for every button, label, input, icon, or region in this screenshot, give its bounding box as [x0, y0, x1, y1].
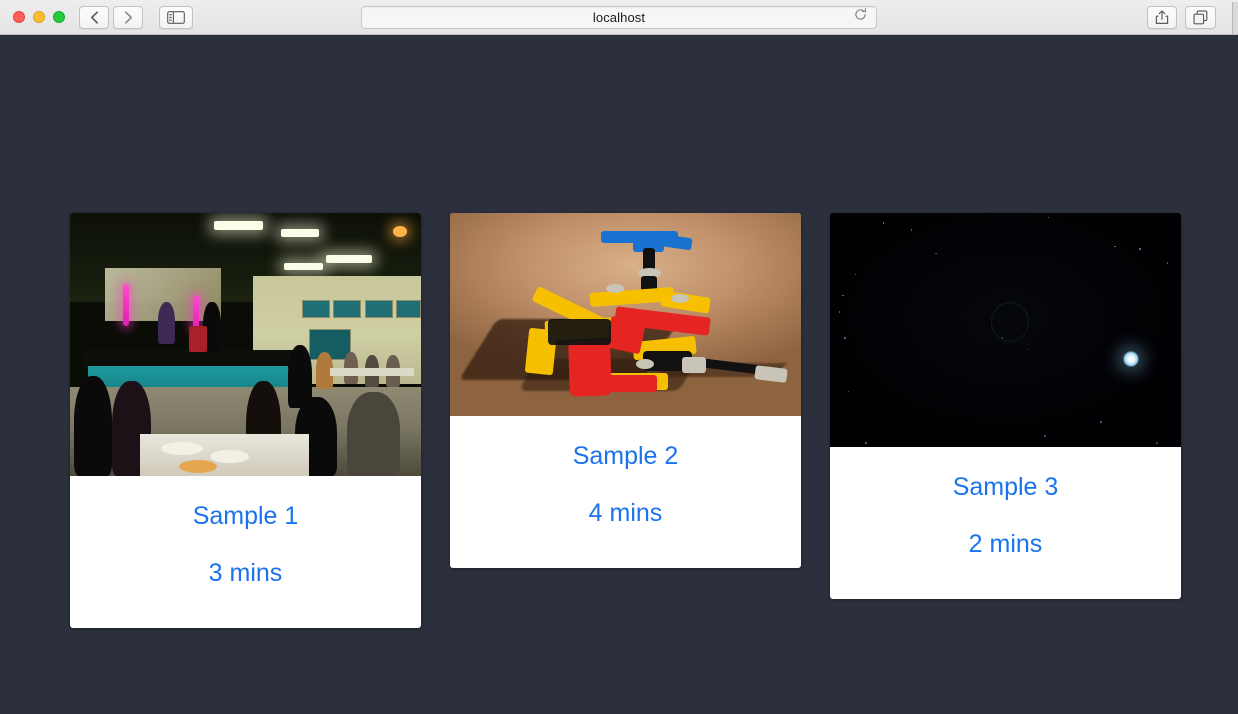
- star: [1048, 217, 1050, 219]
- page-content: Sample 1 3 mins: [0, 35, 1238, 714]
- reload-icon[interactable]: [854, 8, 867, 26]
- bright-star: [1123, 351, 1139, 367]
- sidebar-toggle-button[interactable]: [159, 6, 193, 29]
- lego-bushing: [682, 357, 707, 373]
- warm-lamp-icon: [393, 226, 407, 237]
- video-title[interactable]: Sample 2: [460, 442, 791, 471]
- video-title[interactable]: Sample 3: [840, 473, 1171, 502]
- audience-figure: [347, 392, 400, 476]
- video-duration[interactable]: 4 mins: [460, 499, 791, 528]
- video-card-list: Sample 1 3 mins: [70, 213, 1181, 628]
- stage-light-beam: [123, 284, 129, 326]
- lego-pin: [636, 359, 654, 369]
- ceiling-lamp-icon: [214, 221, 263, 230]
- chevron-left-icon: [90, 11, 99, 24]
- performer-figure: [189, 326, 207, 352]
- video-thumbnail-lego-model[interactable]: [450, 213, 801, 416]
- chevron-right-icon: [124, 11, 133, 24]
- video-card[interactable]: Sample 2 4 mins: [450, 213, 801, 568]
- performer-figure: [158, 302, 176, 344]
- video-duration[interactable]: 3 mins: [80, 559, 411, 588]
- hall-window: [333, 300, 361, 318]
- share-icon: [1155, 10, 1169, 25]
- hall-window: [396, 300, 421, 318]
- show-all-tabs-icon: [1193, 10, 1208, 25]
- plate: [161, 442, 203, 455]
- star: [1100, 421, 1102, 423]
- window-right-edge: [1232, 2, 1238, 34]
- lego-red-beam: [594, 375, 657, 391]
- lego-black-part: [548, 319, 611, 345]
- toolbar-right-group: [1147, 6, 1230, 29]
- maximize-window-button[interactable]: [53, 11, 65, 23]
- star: [1156, 442, 1158, 444]
- hall-window: [365, 300, 393, 318]
- star: [883, 222, 885, 224]
- star: [844, 337, 846, 339]
- video-card-body: Sample 1 3 mins: [70, 476, 421, 628]
- lego-red-beam: [605, 315, 646, 354]
- video-card[interactable]: Sample 3 2 mins: [830, 213, 1181, 599]
- window-controls: [8, 11, 79, 23]
- back-button[interactable]: [79, 6, 109, 29]
- banquet-table: [330, 368, 414, 376]
- star: [1139, 248, 1141, 250]
- audience-figure: [74, 376, 113, 476]
- sidebar-toggle-icon: [167, 11, 185, 24]
- video-card-body: Sample 2 4 mins: [450, 416, 801, 568]
- video-title[interactable]: Sample 1: [80, 502, 411, 531]
- address-bar[interactable]: localhost: [361, 6, 877, 29]
- video-card-body: Sample 3 2 mins: [830, 447, 1181, 599]
- lego-pin: [606, 284, 624, 293]
- close-window-button[interactable]: [13, 11, 25, 23]
- video-thumbnail-night-sky[interactable]: [830, 213, 1181, 447]
- star: [865, 442, 867, 444]
- ceiling-lamp-icon: [284, 263, 323, 270]
- video-duration[interactable]: 2 mins: [840, 530, 1171, 559]
- show-all-tabs-button[interactable]: [1185, 6, 1216, 29]
- share-button[interactable]: [1147, 6, 1177, 29]
- ceiling-lamp-icon: [281, 229, 320, 237]
- star: [1044, 435, 1046, 437]
- navigation-buttons: [79, 6, 143, 29]
- video-thumbnail-event-hall[interactable]: [70, 213, 421, 476]
- browser-toolbar: localhost: [0, 0, 1238, 35]
- browser-window: localhost: [0, 0, 1238, 714]
- forward-button[interactable]: [113, 6, 143, 29]
- plate: [210, 450, 249, 463]
- address-text[interactable]: localhost: [593, 10, 645, 25]
- video-card[interactable]: Sample 1 3 mins: [70, 213, 421, 628]
- minimize-window-button[interactable]: [33, 11, 45, 23]
- ceiling-lamp-icon: [326, 255, 372, 263]
- hall-window: [302, 300, 330, 318]
